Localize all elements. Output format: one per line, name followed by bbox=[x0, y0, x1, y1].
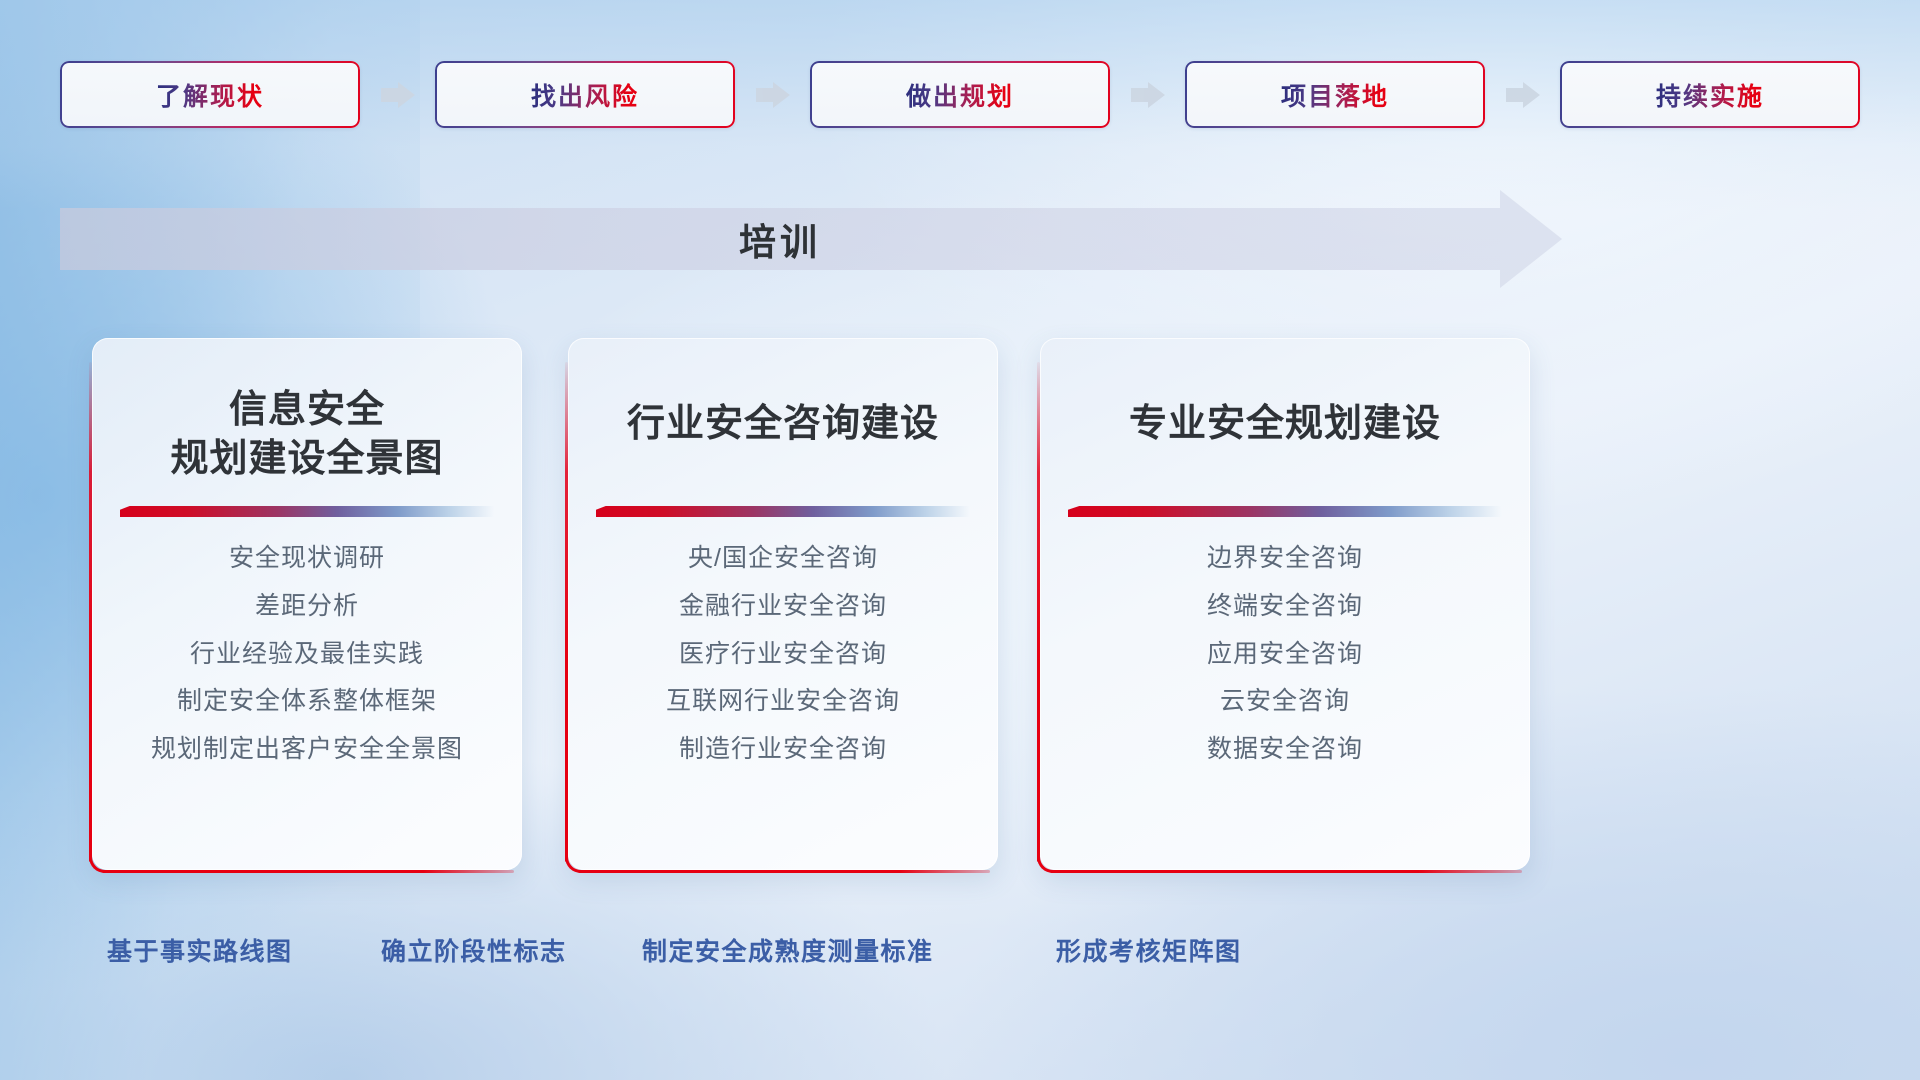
footer-label-maturity: 制定安全成熟度测量标准 bbox=[642, 932, 934, 968]
service-card-professional-planning[interactable]: 专业安全规划建设 边界安全咨询 终端安全咨询 应用安全咨询 云安全咨询 数据安全… bbox=[1040, 338, 1530, 870]
process-step-row: 了解现状 找出风险 做出规划 项目落地 持续实施 bbox=[60, 61, 1860, 128]
card-title-line-1: 行业安全咨询建设 bbox=[568, 400, 998, 449]
process-step-3[interactable]: 做出规划 bbox=[810, 61, 1110, 128]
list-item: 差距分析 bbox=[255, 592, 359, 621]
card-title: 专业安全规划建设 bbox=[1040, 400, 1530, 449]
card-corner-accent bbox=[565, 847, 591, 873]
card-title-line-1: 信息安全 bbox=[92, 386, 522, 435]
process-step-label: 做出规划 bbox=[906, 77, 1014, 113]
arrow-right-icon bbox=[1506, 82, 1540, 108]
card-title: 行业安全咨询建设 bbox=[568, 400, 998, 449]
arrow-right-icon bbox=[756, 82, 790, 108]
card-list: 边界安全咨询 终端安全咨询 应用安全咨询 云安全咨询 数据安全咨询 bbox=[1040, 544, 1530, 764]
list-item: 央/国企安全咨询 bbox=[688, 544, 878, 573]
training-banner-label: 培训 bbox=[60, 208, 1500, 270]
footer-label-roadmap: 基于事实路线图 bbox=[107, 932, 293, 968]
list-item: 应用安全咨询 bbox=[1207, 640, 1363, 669]
step-separator-3 bbox=[1110, 61, 1185, 128]
process-step-label: 找出风险 bbox=[531, 77, 639, 113]
training-banner-arrow-icon bbox=[1500, 190, 1562, 288]
process-step-5[interactable]: 持续实施 bbox=[1560, 61, 1860, 128]
arrow-right-icon bbox=[1131, 82, 1165, 108]
process-step-1[interactable]: 了解现状 bbox=[60, 61, 360, 128]
card-title: 信息安全 规划建设全景图 bbox=[92, 386, 522, 483]
process-step-label: 项目落地 bbox=[1281, 77, 1389, 113]
card-title-line-2: 规划建设全景图 bbox=[92, 435, 522, 484]
service-card-panorama[interactable]: 信息安全 规划建设全景图 安全现状调研 差距分析 行业经验及最佳实践 制定安全体… bbox=[92, 338, 522, 870]
process-step-4[interactable]: 项目落地 bbox=[1185, 61, 1485, 128]
card-list: 安全现状调研 差距分析 行业经验及最佳实践 制定安全体系整体框架 规划制定出客户… bbox=[92, 544, 522, 764]
footer-label-row: 基于事实路线图 确立阶段性标志 制定安全成熟度测量标准 形成考核矩阵图 bbox=[0, 932, 1920, 976]
list-item: 互联网行业安全咨询 bbox=[666, 687, 900, 716]
process-step-label: 了解现状 bbox=[156, 77, 264, 113]
process-step-2[interactable]: 找出风险 bbox=[435, 61, 735, 128]
card-list: 央/国企安全咨询 金融行业安全咨询 医疗行业安全咨询 互联网行业安全咨询 制造行… bbox=[568, 544, 998, 764]
card-bottom-accent bbox=[1050, 870, 1522, 873]
process-step-label: 持续实施 bbox=[1656, 77, 1764, 113]
list-item: 数据安全咨询 bbox=[1207, 735, 1363, 764]
footer-label-milestone: 确立阶段性标志 bbox=[381, 932, 567, 968]
step-separator-4 bbox=[1485, 61, 1560, 128]
arrow-right-icon bbox=[381, 82, 415, 108]
step-separator-2 bbox=[735, 61, 810, 128]
step-separator-1 bbox=[360, 61, 435, 128]
card-corner-accent bbox=[1037, 847, 1063, 873]
list-item: 云安全咨询 bbox=[1220, 687, 1350, 716]
card-divider bbox=[596, 506, 970, 517]
list-item: 边界安全咨询 bbox=[1207, 544, 1363, 573]
service-card-industry-consulting[interactable]: 行业安全咨询建设 央/国企安全咨询 金融行业安全咨询 医疗行业安全咨询 互联网行… bbox=[568, 338, 998, 870]
list-item: 安全现状调研 bbox=[229, 544, 385, 573]
card-row: 信息安全 规划建设全景图 安全现状调研 差距分析 行业经验及最佳实践 制定安全体… bbox=[0, 338, 1920, 870]
footer-label-matrix: 形成考核矩阵图 bbox=[1056, 932, 1242, 968]
card-divider bbox=[1068, 506, 1502, 517]
list-item: 规划制定出客户安全全景图 bbox=[151, 735, 463, 764]
card-title-line-1: 专业安全规划建设 bbox=[1040, 400, 1530, 449]
list-item: 制造行业安全咨询 bbox=[679, 735, 887, 764]
list-item: 金融行业安全咨询 bbox=[679, 592, 887, 621]
list-item: 行业经验及最佳实践 bbox=[190, 640, 424, 669]
card-divider bbox=[120, 506, 494, 517]
list-item: 终端安全咨询 bbox=[1207, 592, 1363, 621]
card-corner-accent bbox=[89, 847, 115, 873]
card-bottom-accent bbox=[578, 870, 990, 873]
list-item: 医疗行业安全咨询 bbox=[679, 640, 887, 669]
card-bottom-accent bbox=[102, 870, 514, 873]
list-item: 制定安全体系整体框架 bbox=[177, 687, 437, 716]
